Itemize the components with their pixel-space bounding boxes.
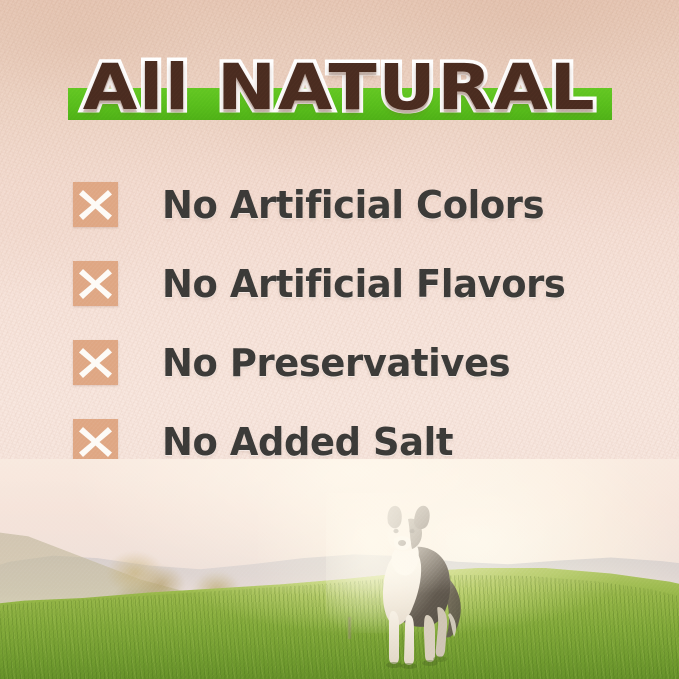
claim-label: No Preservatives xyxy=(162,344,510,382)
x-mark-icon xyxy=(73,340,118,385)
headline-banner: All NATURAL xyxy=(0,44,679,130)
all-natural-claims-panel: All NATURAL No Artificial Colors No Arti… xyxy=(0,0,679,679)
headline-text: All NATURAL xyxy=(0,44,679,130)
x-mark-icon xyxy=(73,261,118,306)
border-collie-dog xyxy=(352,503,478,671)
hillside-dog-photo xyxy=(0,459,679,679)
claim-row: No Artificial Flavors xyxy=(73,261,633,306)
claim-row: No Artificial Colors xyxy=(73,182,633,227)
claim-label: No Added Salt xyxy=(162,423,453,461)
claim-label: No Artificial Flavors xyxy=(162,265,565,303)
x-mark-icon xyxy=(73,182,118,227)
fence-post xyxy=(348,617,351,639)
claim-label: No Artificial Colors xyxy=(162,186,544,224)
claim-row: No Preservatives xyxy=(73,340,633,385)
claim-row: No Added Salt xyxy=(73,419,633,464)
claims-list: No Artificial Colors No Artificial Flavo… xyxy=(73,182,633,498)
x-mark-icon xyxy=(73,419,118,464)
